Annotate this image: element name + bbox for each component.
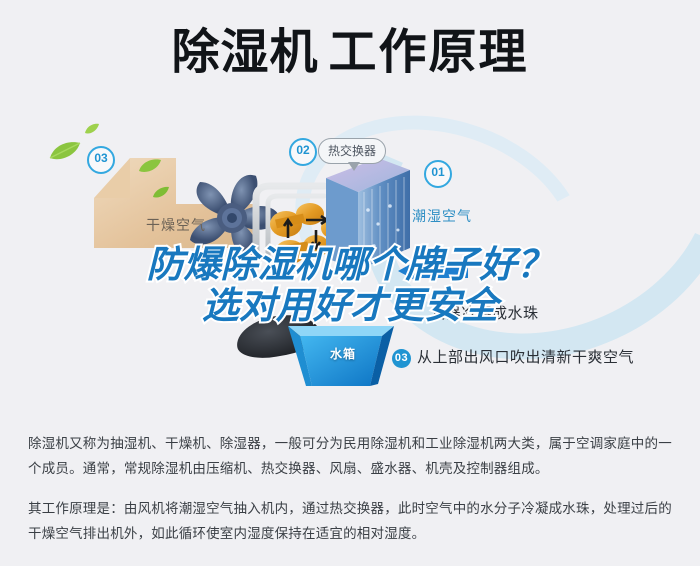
page-title-part-two: 工作原理: [329, 28, 529, 76]
process-step-03-text: 从上部出风口吹出清新干爽空气: [417, 349, 634, 366]
step-badge-03: 03: [87, 146, 115, 174]
process-step-02-text: 发器冷凝成水珠: [430, 305, 539, 322]
process-step-03: 03从上部出风口吹出清新干爽空气: [392, 346, 634, 368]
dry-air-label: 干燥空气: [146, 215, 206, 235]
heat-exchanger-bubble: 热交换器: [318, 138, 386, 164]
page-title-part-one: 除湿机: [171, 28, 318, 76]
process-step-02: 发器冷凝成水珠: [430, 302, 539, 323]
page-root: 除湿机工作原理: [0, 0, 700, 566]
dehumidifier-diagram: 水箱 03 干燥空气 02 热交换器 01 潮湿空气 发器冷凝成水珠 03从上部…: [0, 112, 700, 390]
page-title: 除湿机工作原理: [0, 28, 700, 76]
humid-air-label: 潮湿空气: [412, 206, 472, 226]
body-paragraph-1: 除湿机又称为抽湿机、干燥机、除湿器，一般可分为民用除湿机和工业除湿机两大类，属于…: [28, 432, 676, 482]
leaf-icon-large: [48, 140, 82, 167]
step-badge-01: 01: [424, 160, 452, 188]
step-badge-02: 02: [289, 138, 317, 166]
evaporator-block-icon: [318, 152, 414, 276]
leaf-icon-tiny: [152, 186, 170, 204]
water-tank-label: 水箱: [330, 345, 356, 362]
process-step-03-badge: 03: [392, 349, 411, 368]
leaf-icon-mid: [138, 158, 162, 179]
body-paragraph-2: 其工作原理是：由风机将潮湿空气抽入机内，通过热交换器，此时空气中的水分子冷凝成水…: [28, 497, 676, 547]
leaf-icon-small: [84, 122, 100, 140]
humid-air-inlet-arrow-icon: [396, 260, 468, 282]
